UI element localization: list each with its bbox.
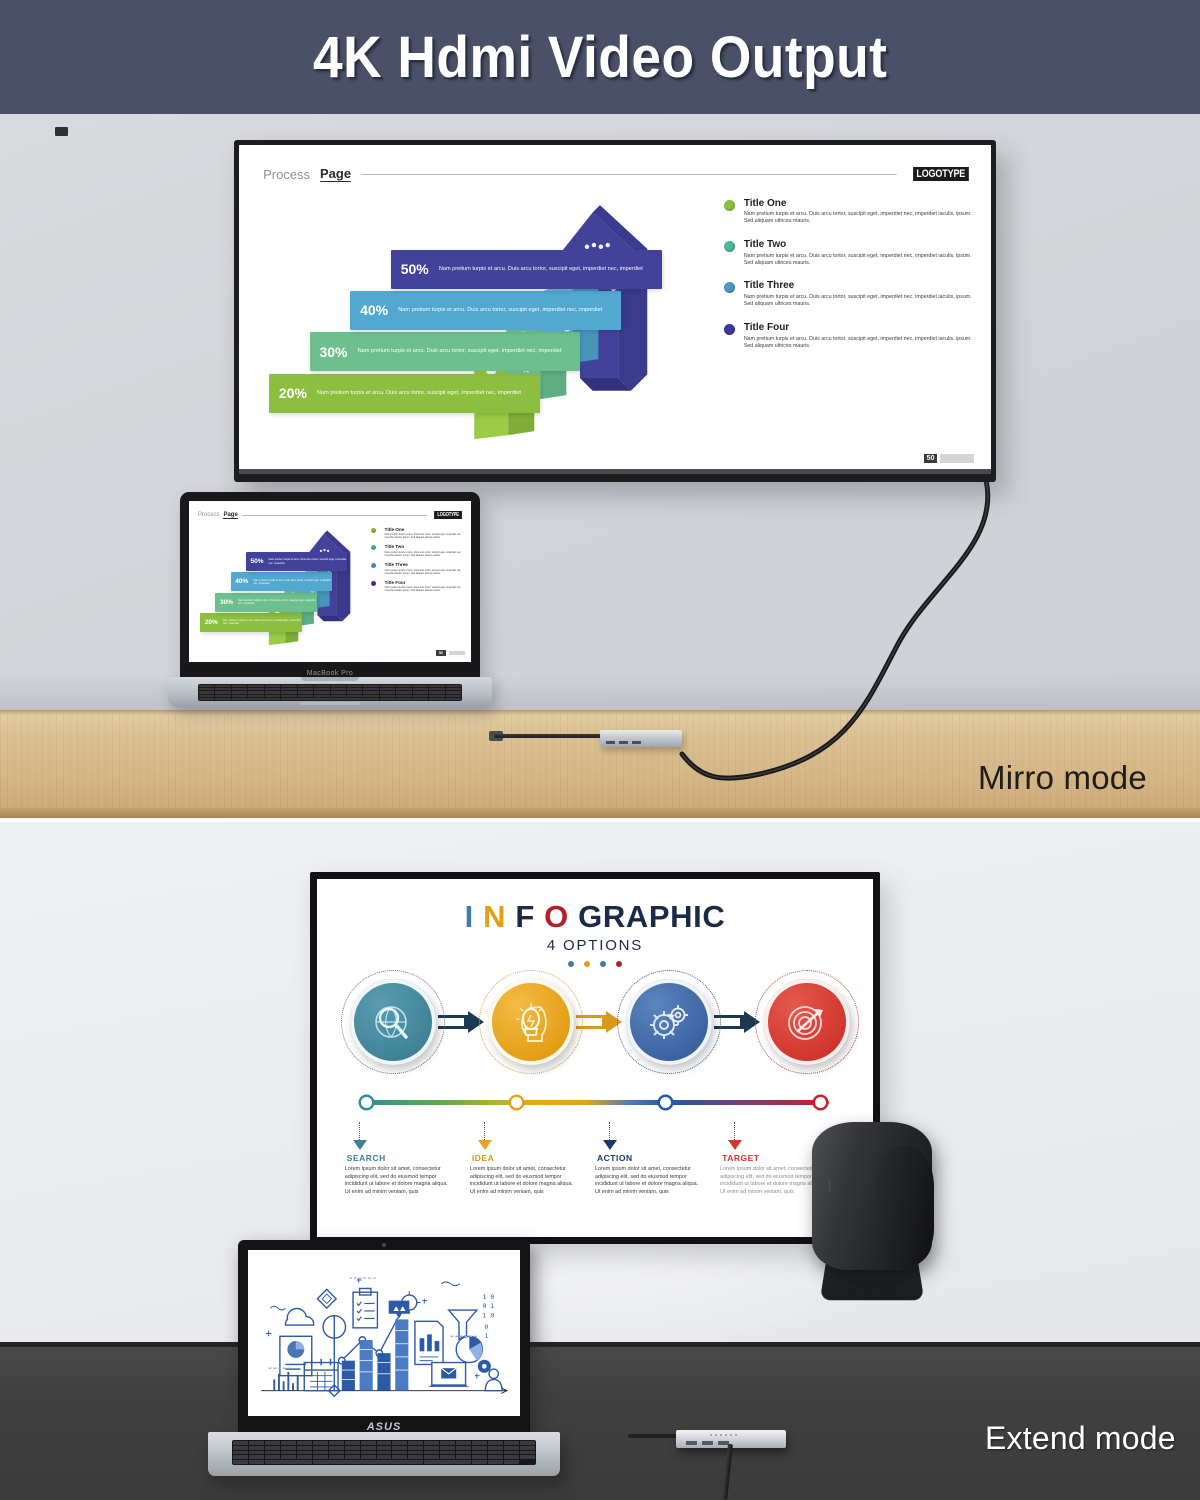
logotype-badge: LOGOTYPE [913, 167, 968, 181]
legend-item: Title One Nam pretium turpis et arcu. Du… [724, 198, 972, 226]
legend-body: Nam pretium turpis et arcu. Duis arcu to… [385, 551, 464, 557]
option-column-idea: IDEA Lorem ipsum dolor sit amet, consect… [470, 1122, 595, 1196]
step-text-30: Nam pretium turpis et arcu. Duis arcu to… [237, 599, 317, 605]
legend-item: Title Two Nam pretium turpis et arcu. Du… [724, 239, 972, 267]
legend-bullet-icon [371, 528, 376, 533]
timeline-node [361, 1097, 372, 1108]
slide-title-light: Process [263, 167, 310, 182]
laptop-base [168, 677, 492, 707]
step-text-40: Nam pretium turpis et arcu. Duis arcu to… [252, 579, 332, 585]
usb-c-cable [494, 734, 604, 738]
legend-bullet-icon [371, 545, 376, 550]
footer-badge: 50 [924, 454, 938, 463]
step-bar-50: 50% Nam pretium turpis et arcu. Duis arc… [246, 552, 348, 571]
legend-list: Title One Nam pretium turpis et arcu. Du… [724, 198, 972, 364]
triangle-marker-icon [603, 1140, 617, 1150]
hub-ports [686, 1441, 729, 1445]
keyboard-row [233, 1451, 535, 1455]
triangle-marker-icon [353, 1140, 367, 1150]
circle-body [764, 979, 850, 1065]
dotted-connector [609, 1122, 700, 1140]
legend-body: Nam pretium turpis et arcu. Duis arcu to… [744, 211, 972, 225]
header-dot [600, 961, 606, 967]
timeline-bar [361, 1097, 828, 1107]
step-percent-30: 30% [310, 344, 354, 360]
header-dot [616, 961, 622, 967]
legend-title: Title Three [744, 280, 972, 291]
legend-bullet-icon [724, 282, 735, 293]
step-percent-40: 40% [350, 302, 394, 318]
page-title: 4K Hdmi Video Output [313, 24, 887, 91]
step-bar-20: 20% Nam pretium turpis et arcu. Duis arc… [269, 374, 540, 413]
option-circle-target [764, 979, 850, 1065]
step-text-50: Nam pretium turpis et arcu. Duis arcu to… [267, 558, 347, 564]
circle-body [488, 979, 574, 1065]
dotted-connector [359, 1122, 450, 1140]
option-label: SEARCH [347, 1153, 450, 1163]
external-monitor-extend: I N F O GRAPHIC 4 OPTIONS [310, 872, 880, 1244]
legend-title: Title Two [385, 544, 464, 549]
svg-text:1 0: 1 0 [482, 1312, 494, 1320]
step-percent-30: 30% [215, 599, 235, 606]
step-percent-40: 40% [231, 578, 251, 585]
speaker-device [812, 1122, 942, 1300]
footer-bar [940, 454, 974, 463]
legend-bullet-icon [371, 563, 376, 568]
legend-title: Title Four [385, 580, 464, 585]
title-letter-i: I [465, 899, 474, 934]
legend-item: Title Four Nam pretium turpis et arcu. D… [371, 580, 464, 593]
target-arrow-icon [782, 997, 832, 1047]
legend-title: Title One [744, 198, 972, 209]
laptop-lid: Process Page LOGOTYPE [180, 492, 480, 680]
hub-markings [710, 1434, 737, 1436]
step-percent-50: 50% [391, 261, 435, 277]
option-label: ACTION [597, 1153, 700, 1163]
keyboard-row [233, 1455, 535, 1459]
timeline-node [815, 1097, 826, 1108]
keyboard-row [199, 698, 461, 700]
logotype-badge: LOGOTYPE [434, 511, 462, 519]
step-text-20: Nam pretium turpis et arcu. Duis arcu to… [222, 619, 302, 625]
laptop-brand-label: MacBook Pro [180, 670, 480, 677]
step-percent-50: 50% [246, 558, 266, 565]
infographic-title: I N F O GRAPHIC [317, 899, 873, 935]
infographic-header: I N F O GRAPHIC 4 OPTIONS [317, 899, 873, 967]
keyboard-row [233, 1441, 535, 1445]
legend-title: Title Three [385, 562, 464, 567]
header-dot [568, 961, 574, 967]
option-label: TARGET [722, 1153, 825, 1163]
option-circles [350, 979, 839, 1065]
option-label: IDEA [472, 1153, 575, 1163]
keyboard-row [199, 695, 461, 697]
monitor-screen-mirror: Process Page LOGOTYPE [239, 145, 991, 474]
lightbulb-head-icon [506, 997, 556, 1047]
triangle-marker-icon [728, 1140, 742, 1150]
extend-mode-panel: I N F O GRAPHIC 4 OPTIONS [0, 822, 1200, 1500]
header-banner: 4K Hdmi Video Output [0, 0, 1200, 114]
legend-item: Title One Nam pretium turpis et arcu. Du… [371, 527, 464, 540]
step-percent-20: 20% [269, 385, 313, 401]
title-letter-f: F [515, 899, 535, 934]
laptop-keyboard [232, 1440, 536, 1465]
step-bar-50: 50% Nam pretium turpis et arcu. Duis arc… [391, 250, 662, 289]
legend-body: Nam pretium turpis et arcu. Duis arcu to… [385, 533, 464, 539]
usb-c-cable [628, 1434, 680, 1438]
timeline-node [511, 1097, 522, 1108]
option-column-search: SEARCH Lorem ipsum dolor sit amet, conse… [345, 1122, 470, 1196]
option-circle-search [350, 979, 436, 1065]
header-rule [361, 174, 897, 175]
gears-icon [644, 997, 694, 1047]
slide-header: Process Page LOGOTYPE [263, 166, 974, 182]
laptop-macbook: Process Page LOGOTYPE [168, 492, 492, 714]
legend-body: Nam pretium turpis et arcu. Duis arcu to… [744, 253, 972, 267]
legend-title: Title Four [744, 322, 972, 333]
legend-body: Nam pretium turpis et arcu. Duis arcu to… [385, 586, 464, 592]
step-text-50: Nam pretium turpis et arcu. Duis arcu to… [436, 266, 646, 273]
keyboard-row [199, 688, 461, 690]
external-monitor-mirror: Process Page LOGOTYPE [234, 140, 996, 482]
legend-body: Nam pretium turpis et arcu. Duis arcu to… [385, 569, 464, 575]
circle-body [350, 979, 436, 1065]
triangle-marker-icon [478, 1140, 492, 1150]
slide-infographic: I N F O GRAPHIC 4 OPTIONS [317, 879, 873, 1237]
speaker-face [876, 1146, 934, 1268]
slide-base-strip [239, 469, 991, 474]
slide-title-bold: Page [320, 166, 351, 182]
svg-text:0: 0 [484, 1323, 488, 1331]
hub-port [606, 741, 615, 744]
step-bar-40: 40% Nam pretium turpis et arcu. Duis arc… [231, 572, 333, 591]
title-letter-o: O [544, 899, 569, 934]
laptop-lid: 1 00 11 001 [238, 1240, 530, 1436]
step-bar-30: 30% Nam pretium turpis et arcu. Duis arc… [310, 332, 581, 371]
extend-mode-label: Extend mode [985, 1420, 1176, 1457]
hdmi-plug [55, 127, 68, 136]
circle-body [626, 979, 712, 1065]
option-text: Lorem ipsum dolor sit amet, consectetur … [720, 1166, 825, 1197]
slide-footer: 50 [924, 454, 975, 463]
hub-port [702, 1441, 713, 1445]
mirror-mode-panel: Process Page LOGOTYPE [0, 114, 1200, 818]
option-text: Lorem ipsum dolor sit amet, consectetur … [470, 1166, 575, 1197]
laptop-trackpad [300, 702, 360, 705]
legend-title: Title Two [744, 239, 972, 250]
laptop-screen-mirror: Process Page LOGOTYPE [189, 501, 471, 662]
staircase-chart: Step 01 Step 02 Step 03 Step 04 20% Nam … [269, 201, 720, 444]
option-text: Lorem ipsum dolor sit amet, consectetur … [595, 1166, 700, 1197]
analytics-illustration: 1 00 11 001 [248, 1250, 520, 1409]
staircase-chart: Step 01 Step 02 Step 03 Step 04 20% Nam … [200, 528, 369, 647]
desk-edge [0, 808, 1200, 818]
speaker-body [812, 1122, 932, 1270]
step-bar-40: 40% Nam pretium turpis et arcu. Duis arc… [350, 291, 621, 330]
mirror-mode-label: Mirro mode [978, 759, 1147, 797]
slide-title-bold: Page [223, 512, 237, 519]
header-rule [242, 515, 427, 516]
speaker-port [828, 1178, 831, 1192]
legend-body: Nam pretium turpis et arcu. Duis arcu to… [744, 336, 972, 350]
step-text-40: Nam pretium turpis et arcu. Duis arcu to… [395, 307, 605, 314]
legend-bullet-icon [371, 581, 376, 586]
option-column-action: ACTION Lorem ipsum dolor sit amet, conse… [595, 1122, 720, 1196]
laptop-screen-extend: 1 00 11 001 [248, 1250, 520, 1416]
keyboard-row [233, 1460, 535, 1464]
footer-badge: 50 [436, 650, 446, 656]
hub-ports [606, 741, 641, 744]
legend-title: Title One [385, 527, 464, 532]
step-bar-30: 30% Nam pretium turpis et arcu. Duis arc… [215, 593, 317, 612]
title-letter-n: N [483, 899, 506, 934]
slide-process-page: Process Page LOGOTYPE [239, 145, 991, 474]
legend-item: Title Two Nam pretium turpis et arcu. Du… [371, 544, 464, 557]
legend-bullet-icon [724, 241, 735, 252]
option-columns: SEARCH Lorem ipsum dolor sit amet, conse… [345, 1122, 845, 1196]
svg-text:1: 1 [484, 1332, 488, 1340]
legend-body: Nam pretium turpis et arcu. Duis arcu to… [744, 294, 972, 308]
legend-item: Title Three Nam pretium turpis et arcu. … [724, 280, 972, 308]
timeline-node [660, 1097, 671, 1108]
globe-magnifier-icon [368, 997, 418, 1047]
slide-title-light: Process [198, 512, 220, 518]
keyboard-row [199, 691, 461, 693]
legend-item: Title Four Nam pretium turpis et arcu. D… [724, 322, 972, 350]
header-dots [317, 961, 873, 967]
monitor-screen-extend: I N F O GRAPHIC 4 OPTIONS [317, 879, 873, 1237]
legend-list: Title One Nam pretium turpis et arcu. Du… [371, 527, 464, 598]
infographic-subtitle: 4 OPTIONS [317, 937, 873, 954]
laptop-base [208, 1432, 560, 1476]
slide-header: Process Page LOGOTYPE [198, 511, 465, 519]
laptop-asus: 1 00 11 001 [208, 1240, 560, 1492]
keyboard-row [199, 685, 461, 687]
usb-c-hub-mirror [600, 730, 682, 747]
legend-bullet-icon [724, 324, 735, 335]
step-text-30: Nam pretium turpis et arcu. Duis arcu to… [355, 348, 565, 355]
step-text-20: Nam pretium turpis et arcu. Duis arcu to… [314, 390, 524, 397]
footer-bar [449, 651, 465, 655]
slide-footer: 50 [436, 650, 465, 656]
slide-process-page-mirrored: Process Page LOGOTYPE [189, 501, 471, 662]
hub-port [632, 741, 641, 744]
webcam-icon [382, 1243, 386, 1247]
laptop-keyboard [198, 684, 462, 701]
option-circle-idea [488, 979, 574, 1065]
hub-port [686, 1441, 697, 1445]
svg-text:1 0: 1 0 [482, 1293, 494, 1301]
keyboard-row [233, 1446, 535, 1450]
title-rest: GRAPHIC [578, 899, 725, 934]
header-dot [584, 961, 590, 967]
option-text: Lorem ipsum dolor sit amet, consectetur … [345, 1166, 450, 1197]
step-bar-20: 20% Nam pretium turpis et arcu. Duis arc… [200, 613, 302, 632]
lid-notch [301, 677, 359, 681]
step-percent-20: 20% [200, 619, 220, 626]
hub-port [619, 741, 628, 744]
dotted-connector [484, 1122, 575, 1140]
svg-text:0 1: 0 1 [482, 1302, 494, 1310]
legend-item: Title Three Nam pretium turpis et arcu. … [371, 562, 464, 575]
legend-bullet-icon [724, 200, 735, 211]
gradient-bar [361, 1100, 828, 1105]
option-circle-action [626, 979, 712, 1065]
